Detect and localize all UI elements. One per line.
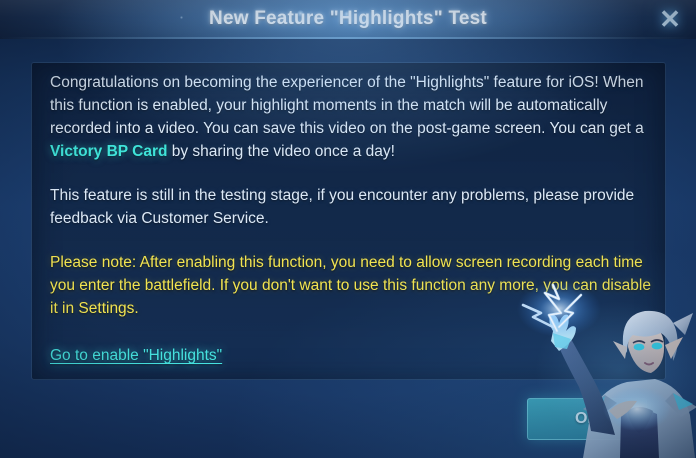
highlights-feature-dialog: New Feature "Highlights" Test ✕ Congratu… (0, 0, 696, 458)
go-to-enable-highlights-link[interactable]: Go to enable "Highlights" (50, 347, 222, 364)
close-x-icon: ✕ (659, 6, 681, 32)
paragraph-testing-stage: This feature is still in the testing sta… (50, 184, 651, 230)
confirm-button-label: OK (575, 410, 599, 428)
dialog-body: Congratulations on becoming the experien… (50, 71, 651, 367)
dialog-content-panel: Congratulations on becoming the experien… (31, 62, 666, 380)
dialog-title-bar: New Feature "Highlights" Test (0, 0, 696, 39)
enable-link-row: Go to enable "Highlights" (50, 344, 651, 367)
confirm-button[interactable]: OK (527, 398, 647, 440)
paragraph-intro: Congratulations on becoming the experien… (50, 71, 651, 163)
victory-bp-card-highlight: Victory BP Card (50, 143, 167, 160)
paragraph-please-note: Please note: After enabling this functio… (50, 251, 651, 320)
paragraph-intro-text-before: Congratulations on becoming the experien… (50, 74, 644, 137)
close-button[interactable]: ✕ (652, 2, 688, 36)
paragraph-intro-text-after: by sharing the video once a day! (167, 143, 394, 160)
page-title: New Feature "Highlights" Test (0, 0, 696, 39)
